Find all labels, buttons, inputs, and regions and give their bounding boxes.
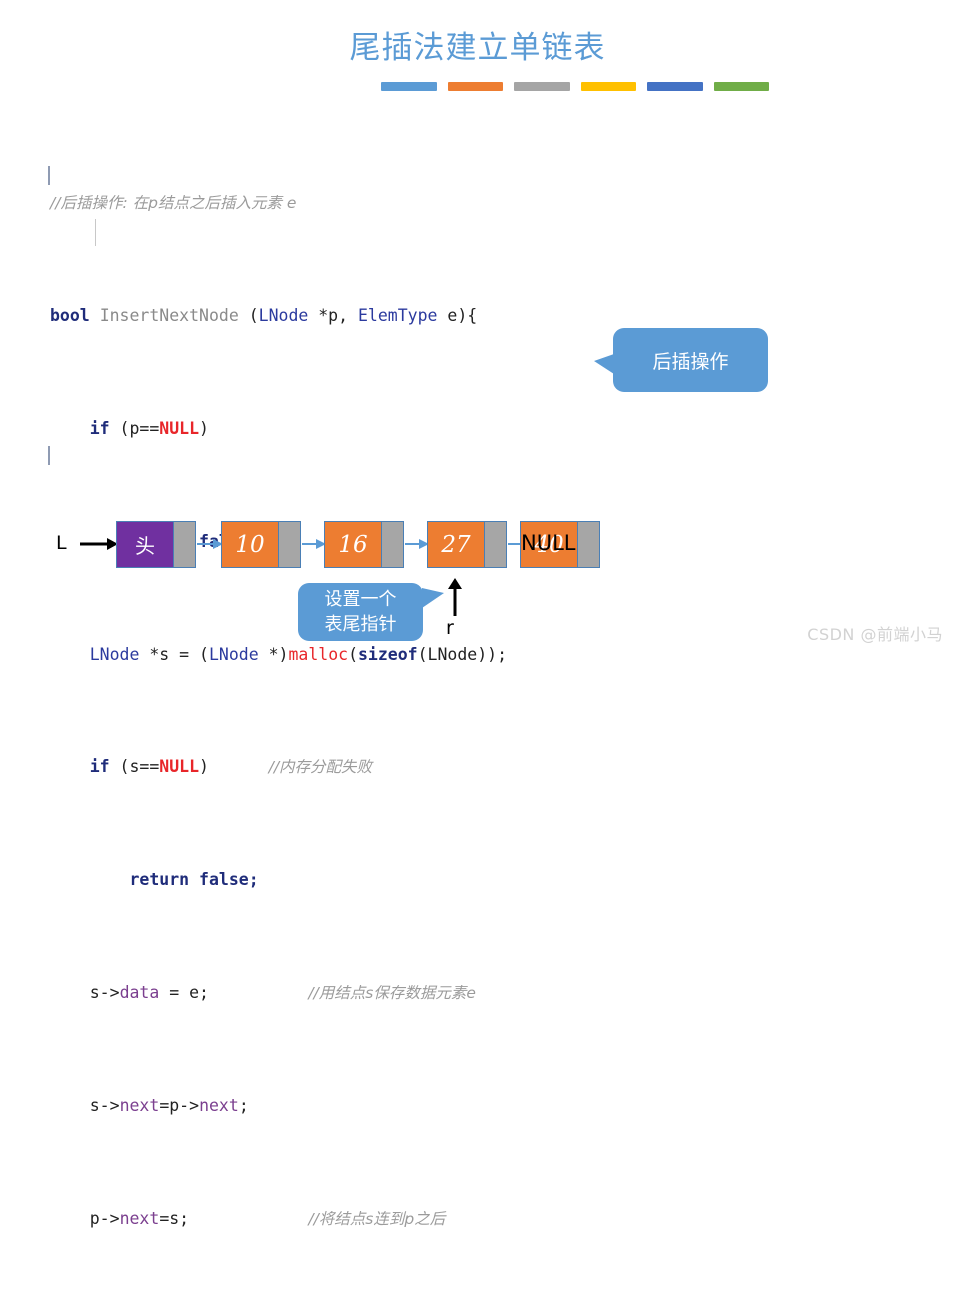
- link-arrow-4-icon: [508, 538, 530, 550]
- code-line-8: s->data = e; //用结点s保存数据元素e: [50, 979, 507, 1007]
- indent-guide: [95, 219, 96, 246]
- type-lnode: LNode: [259, 306, 309, 325]
- accent-bar-orange: [448, 82, 504, 91]
- comment-var-p: p: [148, 194, 158, 212]
- accent-bar-blue-light: [381, 82, 437, 91]
- code-comment-header: //后插操作: 在p结点之后插入元素 e: [50, 194, 296, 212]
- code-line-6: if (s==NULL) //内存分配失败: [50, 753, 507, 781]
- comment-link-s: //将结点s连到p之后: [308, 1210, 445, 1228]
- type-lnode-3: LNode: [209, 645, 259, 664]
- accent-bar-gray: [514, 82, 570, 91]
- field-next-1: next: [120, 1096, 160, 1115]
- code-fold-tick-top: [48, 166, 50, 185]
- watermark: CSDN @前端小马: [807, 621, 943, 645]
- node-pointer-cell-40: [578, 521, 600, 568]
- field-next-2: next: [199, 1096, 239, 1115]
- node-value-40: 40: [520, 521, 578, 568]
- field-data: data: [120, 983, 160, 1002]
- slide-canvas: 尾插法建立单链表 //后插操作: 在p结点之后插入元素 e bool Inser…: [0, 0, 955, 656]
- comment-save-e: //用结点s保存数据元素e: [308, 984, 476, 1002]
- callout-tail-icon: [594, 354, 614, 374]
- callout-tail-line-1: 设置一个: [325, 589, 397, 610]
- code-line-10: p->next=s; //将结点s连到p之后: [50, 1205, 507, 1233]
- kw-return-2: return: [129, 870, 189, 889]
- callout-tail-pointer-text: 设置一个 表尾指针: [325, 587, 397, 637]
- callout-tail-pointer[interactable]: 设置一个 表尾指针: [298, 583, 423, 641]
- accent-bar-yellow: [581, 82, 637, 91]
- type-lnode-2: LNode: [90, 645, 140, 664]
- accent-bar-green: [714, 82, 770, 91]
- code-line-2: bool InsertNextNode (LNode *p, ElemType …: [50, 302, 507, 330]
- field-next-3: next: [120, 1209, 160, 1228]
- callout-tail-icon-2: [422, 588, 444, 608]
- type-elemtype: ElemType: [358, 306, 437, 325]
- kw-if-1: if: [90, 419, 110, 438]
- literal-null-2: NULL: [159, 757, 199, 776]
- comment-mem-fail: //内存分配失败: [269, 758, 372, 776]
- code-line-9: s->next=p->next;: [50, 1092, 507, 1120]
- accent-bar-group: [381, 82, 769, 91]
- code-line-5: LNode *s = (LNode *)malloc(sizeof(LNode)…: [50, 641, 507, 669]
- page-title: 尾插法建立单链表: [0, 22, 955, 67]
- literal-false-1: false: [199, 532, 249, 551]
- code-fold-tick-bottom: [48, 446, 50, 465]
- callout-insert-after-label: 后插操作: [652, 347, 728, 374]
- linked-list-node-40[interactable]: 40: [520, 521, 600, 568]
- fn-malloc: malloc: [288, 645, 348, 664]
- literal-null-1: NULL: [159, 419, 199, 438]
- callout-insert-after[interactable]: 后插操作: [613, 328, 768, 392]
- null-terminator-label: NULL: [521, 531, 575, 555]
- literal-false-2: false: [199, 870, 249, 889]
- kw-if-2: if: [90, 757, 110, 776]
- fn-insertnextnode: InsertNextNode: [100, 306, 239, 325]
- code-line-4: return false;: [50, 528, 507, 556]
- code-line-1: //后插操作: 在p结点之后插入元素 e: [50, 189, 507, 217]
- kw-bool: bool: [50, 306, 90, 325]
- callout-tail-line-2: 表尾指针: [325, 614, 397, 635]
- code-block: //后插操作: 在p结点之后插入元素 e bool InsertNextNode…: [50, 133, 507, 1312]
- kw-return-1: return: [129, 532, 189, 551]
- code-line-7: return false;: [50, 866, 507, 894]
- comment-var-e: e: [287, 194, 297, 212]
- kw-sizeof: sizeof: [358, 645, 418, 664]
- code-line-3: if (p==NULL): [50, 415, 507, 443]
- accent-bar-blue-dark: [647, 82, 703, 91]
